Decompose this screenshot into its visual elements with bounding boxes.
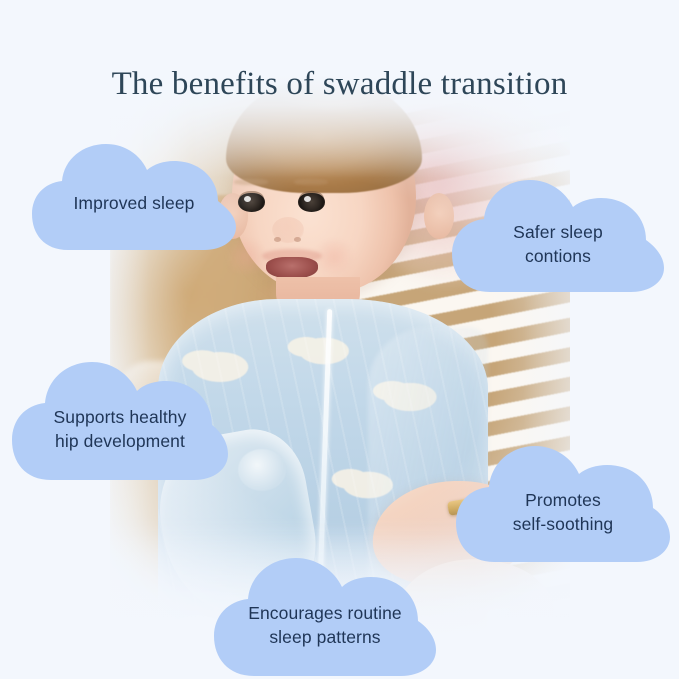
benefit-label: Promotes self-soothing bbox=[513, 488, 614, 536]
benefit-cloud-hip-development: Supports healthy hip development bbox=[12, 360, 228, 480]
swaddle-benefits-infographic: The benefits of swaddle transition Impro… bbox=[0, 0, 679, 679]
benefit-cloud-self-soothing: Promotes self-soothing bbox=[456, 444, 670, 562]
baby-eye-right bbox=[298, 193, 325, 212]
baby-mouth bbox=[266, 257, 318, 279]
page-title: The benefits of swaddle transition bbox=[0, 66, 679, 103]
benefit-label: Supports healthy hip development bbox=[54, 405, 187, 453]
benefit-label: Improved sleep bbox=[73, 191, 194, 215]
sleep-sack-cuff bbox=[238, 449, 286, 491]
baby-nostril-left bbox=[274, 237, 281, 242]
baby-brow-right bbox=[294, 179, 328, 185]
baby-ear-right bbox=[424, 193, 454, 239]
baby-nostril-right bbox=[294, 237, 301, 242]
benefit-cloud-improved-sleep: Improved sleep bbox=[32, 142, 236, 250]
benefit-cloud-safer-sleep: Safer sleep contions bbox=[452, 178, 664, 292]
benefit-cloud-routine-sleep: Encourages routine sleep patterns bbox=[214, 556, 436, 676]
benefit-label: Encourages routine sleep patterns bbox=[248, 601, 402, 649]
baby-eye-left bbox=[238, 193, 265, 212]
benefit-label: Safer sleep contions bbox=[513, 220, 603, 268]
baby-brow-left bbox=[234, 179, 268, 185]
